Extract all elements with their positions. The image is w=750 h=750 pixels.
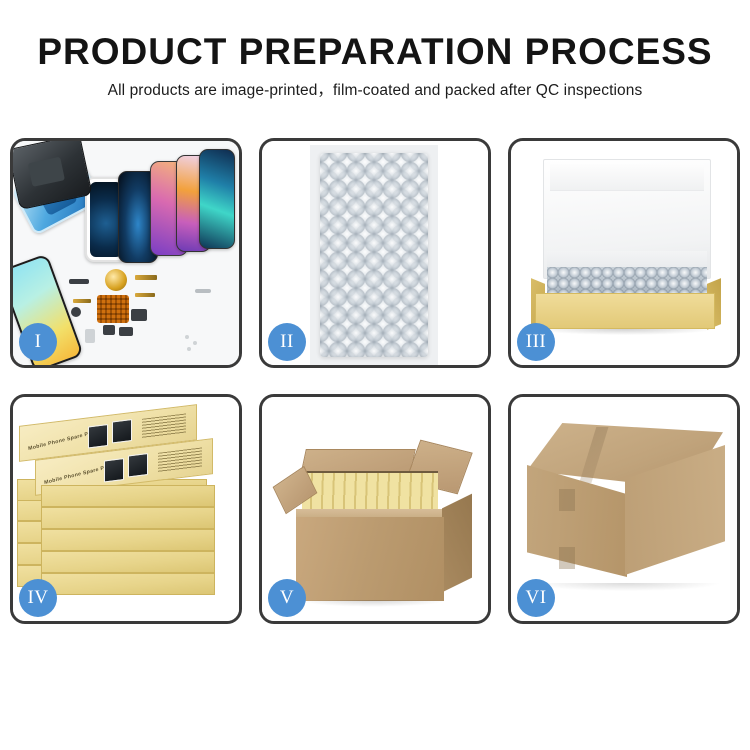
- carton-left-face-icon: [527, 465, 627, 577]
- step-badge-5: V: [268, 579, 306, 617]
- packed-bubble-items-icon: [547, 267, 707, 295]
- step-badge-1: I: [19, 323, 57, 361]
- step-badge-6: VI: [517, 579, 555, 617]
- carton-drop-shadow: [298, 600, 448, 607]
- retail-box-slab: [41, 507, 215, 529]
- retail-box-slab: [41, 529, 215, 551]
- camera-module-part-icon: [131, 309, 147, 321]
- battery-connector-part-icon: [69, 279, 89, 284]
- screen-print-icon: [112, 419, 132, 443]
- screen-print-icon: [104, 458, 124, 482]
- retail-box-slab: [41, 551, 215, 573]
- carton-drop-shadow: [533, 583, 719, 591]
- page-subtitle: All products are image-printed，film-coat…: [0, 80, 750, 102]
- screw-part-icon: [187, 347, 191, 351]
- speaker-part-icon: [71, 307, 81, 317]
- process-step-grid: I II III: [10, 138, 740, 624]
- carton-hand-hole-icon: [559, 547, 575, 569]
- flex-cable-part-icon: [135, 275, 157, 280]
- taptic-engine-part-icon: [119, 327, 133, 336]
- process-step-card-2[interactable]: II: [259, 138, 491, 368]
- spec-lines: [142, 413, 186, 438]
- process-step-card-4[interactable]: Mobile Phone Spare Parts Mobile Phone Sp…: [10, 394, 242, 624]
- teal-swirl-phone-icon: [199, 149, 235, 249]
- box-drop-shadow: [537, 329, 713, 335]
- sim-tray-part-icon: [103, 325, 115, 335]
- process-step-card-5[interactable]: V: [259, 394, 491, 624]
- chip-array-part-icon: [97, 295, 129, 323]
- step-badge-3: III: [517, 323, 555, 361]
- tweezers-tool-icon: [195, 289, 211, 293]
- button-flex-part-icon: [135, 293, 155, 297]
- process-step-card-3[interactable]: III: [508, 138, 740, 368]
- screen-print-icon: [88, 424, 108, 448]
- retail-box-slab: [41, 485, 215, 507]
- page-title: PRODUCT PREPARATION PROCESS: [0, 30, 750, 74]
- bubble-wrap-icon: [320, 153, 428, 357]
- vibration-motor-part-icon: [105, 269, 127, 291]
- process-step-card-6[interactable]: VI: [508, 394, 740, 624]
- carton-front-icon: [296, 517, 444, 601]
- spare-parts-cluster: [69, 269, 219, 365]
- side-flex-part-icon: [73, 299, 91, 303]
- yellow-box-front-icon: [535, 293, 715, 329]
- screw-part-icon: [193, 341, 197, 345]
- carton-right-side-icon: [442, 494, 472, 593]
- screw-part-icon: [185, 335, 189, 339]
- step-badge-4: IV: [19, 579, 57, 617]
- retail-box-slab: [41, 573, 215, 595]
- step-badge-2: II: [268, 323, 306, 361]
- page-header: PRODUCT PREPARATION PROCESS All products…: [0, 0, 750, 102]
- carton-hand-hole-icon: [559, 489, 575, 511]
- metal-bracket-part-icon: [85, 329, 95, 343]
- screen-print-icon: [128, 453, 148, 477]
- process-step-card-1[interactable]: I: [10, 138, 242, 368]
- spec-lines: [158, 447, 202, 472]
- product-preparation-process-page: PRODUCT PREPARATION PROCESS All products…: [0, 0, 750, 750]
